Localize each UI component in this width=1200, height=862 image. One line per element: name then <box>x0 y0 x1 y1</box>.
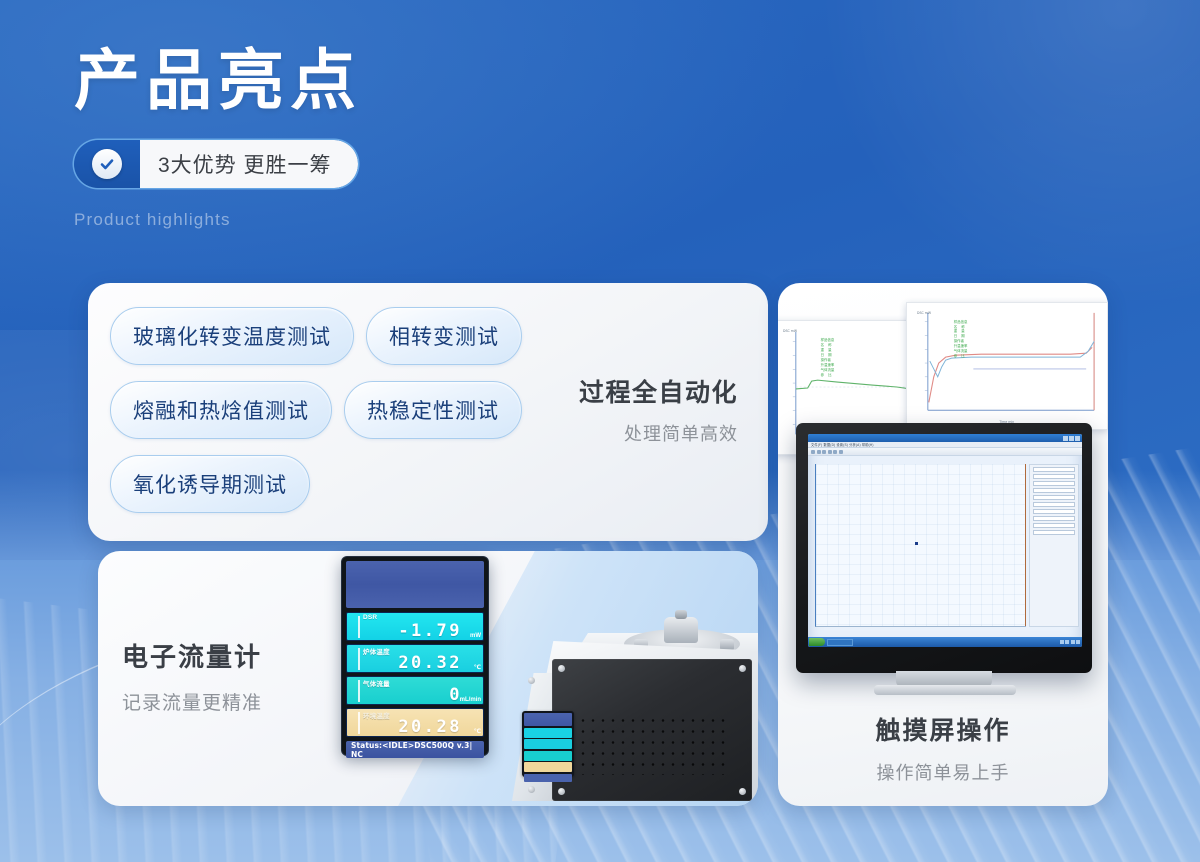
window-titlebar <box>808 434 1082 442</box>
instrument-knob <box>664 617 698 643</box>
toolbar-print-icon[interactable] <box>822 450 826 454</box>
display-row-ambient-temp: 环境温度 20.28 ℃ <box>346 708 484 737</box>
monitor-screen[interactable]: 文件(F) 数据(D) 设置(S) 分析(A) 帮助(H) <box>808 434 1082 647</box>
software-side-panel[interactable] <box>1029 464 1079 627</box>
panel-field[interactable] <box>1033 516 1075 521</box>
panel-field[interactable] <box>1033 474 1075 479</box>
tray-icon[interactable] <box>1071 640 1075 644</box>
panel-field[interactable] <box>1033 481 1075 486</box>
check-circle-icon <box>92 149 122 179</box>
panel-screw-br <box>739 788 746 795</box>
row-tick-mark <box>358 616 360 638</box>
automation-subtitle: 处理简单高效 <box>579 420 738 446</box>
chart-legend: 样品信息 名 称 重 量 日 期 操作者 升温速率 气体流量 参 比 <box>954 320 968 360</box>
toolbar-run-icon[interactable] <box>833 450 837 454</box>
row-label: DSR <box>363 614 377 621</box>
row-tick-mark <box>358 712 360 734</box>
flowmeter-text-block: 电子流量计 记录流量更精准 <box>122 637 262 715</box>
chart-area: 样品信息 名 称 重 量 日 期 操作者 升温速率 气体流量 参 比 DSC m… <box>912 308 1102 424</box>
plot-cursor-marker <box>915 542 918 545</box>
monitor-base <box>874 685 1016 695</box>
window-maximize-icon[interactable] <box>1069 436 1074 441</box>
mini-display-status <box>524 774 572 782</box>
toolbar-zoom-icon[interactable] <box>828 450 832 454</box>
tag-row-1: 玻璃化转变温度测试 相转变测试 <box>110 307 570 365</box>
display-row-dsr: DSR -1.79 mW <box>346 612 484 641</box>
panel-field[interactable] <box>1033 509 1075 514</box>
panel-field[interactable] <box>1033 467 1075 472</box>
display-row-furnace-temp: 炉体温度 20.32 ℃ <box>346 644 484 673</box>
test-tag-list: 玻璃化转变温度测试 相转变测试 熔融和热焓值测试 热稳定性测试 氧化诱导期测试 <box>110 307 570 529</box>
flowmeter-subtitle: 记录流量更精准 <box>122 688 262 715</box>
tag-thermal-stability[interactable]: 热稳定性测试 <box>344 381 522 439</box>
window-close-icon[interactable] <box>1075 436 1080 441</box>
system-tray <box>1060 640 1081 644</box>
row-unit: ℃ <box>474 664 481 671</box>
page-subtitle: Product highlights <box>74 210 362 230</box>
toolbar-open-icon[interactable] <box>811 450 815 454</box>
card-automation: 玻璃化转变温度测试 相转变测试 熔融和热焓值测试 热稳定性测试 氧化诱导期测试 … <box>88 283 768 541</box>
instrument-mini-display[interactable] <box>522 711 574 777</box>
mini-display-row-4 <box>524 762 572 772</box>
page-title: 产品亮点 <box>74 44 362 118</box>
panel-screw-tr <box>739 665 746 672</box>
stand-screw-top <box>528 677 535 684</box>
row-tick-mark <box>358 648 360 670</box>
row-unit: mL/min <box>460 697 481 703</box>
instrument-front-panel <box>552 659 752 801</box>
flowmeter-title: 电子流量计 <box>122 637 262 674</box>
background-glow-top-right <box>760 0 1200 300</box>
row-label: 炉体温度 <box>363 646 390 656</box>
tray-icon[interactable] <box>1065 640 1069 644</box>
panel-field[interactable] <box>1033 523 1075 528</box>
stand-screw-bottom <box>528 786 535 793</box>
chart-printout-right: 样品信息 名 称 重 量 日 期 操作者 升温速率 气体流量 参 比 DSC m… <box>906 302 1108 430</box>
mini-display-row-2 <box>524 739 572 749</box>
row-label: 环境温度 <box>363 710 390 720</box>
mini-display-row-1 <box>524 728 572 738</box>
touchscreen-monitor[interactable]: 文件(F) 数据(D) 设置(S) 分析(A) 帮助(H) <box>796 423 1092 673</box>
automation-text-block: 过程全自动化 处理简单高效 <box>579 373 738 446</box>
badge-label-area: 3大优势 更胜一筹 <box>140 140 358 188</box>
tag-phase-transition[interactable]: 相转变测试 <box>366 307 522 365</box>
tag-row-2: 熔融和热焓值测试 热稳定性测试 <box>110 381 570 439</box>
tray-icon[interactable] <box>1060 640 1064 644</box>
display-status-bar: Status:<IDLE>DSC500Q v.3| NC <box>346 741 484 758</box>
status-text: Status:<IDLE>DSC500Q v.3| NC <box>351 741 484 759</box>
tag-melting-enthalpy[interactable]: 熔融和热焓值测试 <box>110 381 332 439</box>
touchscreen-title: 触摸屏操作 <box>778 711 1108 747</box>
mini-display-header <box>524 713 572 726</box>
software-plot-area[interactable] <box>815 464 1026 627</box>
touchscreen-subtitle: 操作简单易上手 <box>778 759 1108 785</box>
chart-ylabel: DSC mW <box>917 311 931 315</box>
row-unit: mW <box>470 633 481 639</box>
panel-screw-tl <box>558 665 565 672</box>
panel-field[interactable] <box>1033 530 1075 535</box>
tag-glass-transition[interactable]: 玻璃化转变温度测试 <box>110 307 354 365</box>
display-header-bar <box>346 561 484 608</box>
mini-display-row-3 <box>524 751 572 761</box>
badge-icon-area <box>74 140 140 188</box>
display-row-gas-flow: 气体流量 0 mL/min <box>346 676 484 705</box>
advantage-badge: 3大优势 更胜一筹 <box>74 140 358 188</box>
touchscreen-text-block: 触摸屏操作 操作简单易上手 <box>778 711 1108 785</box>
toolbar-save-icon[interactable] <box>817 450 821 454</box>
window-toolbar[interactable] <box>808 448 1082 456</box>
card-touchscreen: 样品信息 名 称 重 量 日 期 操作者 升温速率 气体流量 参 比 DSC m… <box>778 283 1108 806</box>
tag-row-3: 氧化诱导期测试 <box>110 455 570 513</box>
panel-field[interactable] <box>1033 502 1075 507</box>
taskbar-window-item[interactable] <box>827 639 853 646</box>
window-minimize-icon[interactable] <box>1063 436 1068 441</box>
row-value: 20.32 <box>398 653 462 673</box>
panel-screw-bl <box>558 788 565 795</box>
tray-icon[interactable] <box>1076 640 1080 644</box>
row-tick-mark <box>358 680 360 702</box>
badge-label: 3大优势 更胜一筹 <box>158 149 332 179</box>
toolbar-help-icon[interactable] <box>839 450 843 454</box>
start-button[interactable] <box>809 638 825 646</box>
tag-oxidation-induction[interactable]: 氧化诱导期测试 <box>110 455 310 513</box>
row-unit: ℃ <box>474 728 481 735</box>
instrument-vent-holes <box>578 715 728 775</box>
automation-title: 过程全自动化 <box>579 373 738 409</box>
chart-legend: 样品信息 名 称 重 量 日 期 操作者 升温速率 气体流量 参 比 <box>821 338 835 378</box>
page-header: 产品亮点 3大优势 更胜一筹 Product highlights <box>74 44 362 230</box>
flowmeter-display-panel[interactable]: DSR -1.79 mW 炉体温度 20.32 ℃ 气体流量 0 mL/min … <box>342 557 488 755</box>
row-value: 20.28 <box>398 717 462 737</box>
panel-field[interactable] <box>1033 495 1075 500</box>
row-value: -1.79 <box>398 621 462 641</box>
windows-taskbar[interactable] <box>808 637 1082 647</box>
row-label: 气体流量 <box>363 678 390 688</box>
panel-field[interactable] <box>1033 488 1075 493</box>
chart-ylabel: DSC mW <box>783 329 797 333</box>
